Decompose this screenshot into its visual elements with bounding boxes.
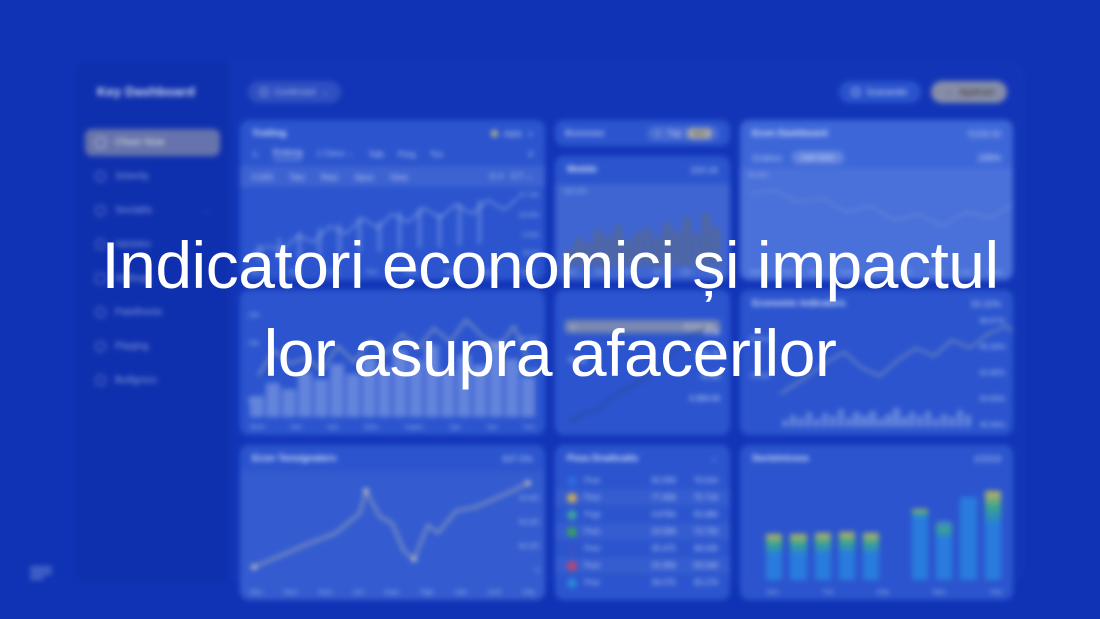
page-title: Indicatori economici și impactul lor asu… bbox=[100, 222, 1000, 398]
headline-overlay: Indicatori economici și impactul lor asu… bbox=[0, 0, 1100, 619]
